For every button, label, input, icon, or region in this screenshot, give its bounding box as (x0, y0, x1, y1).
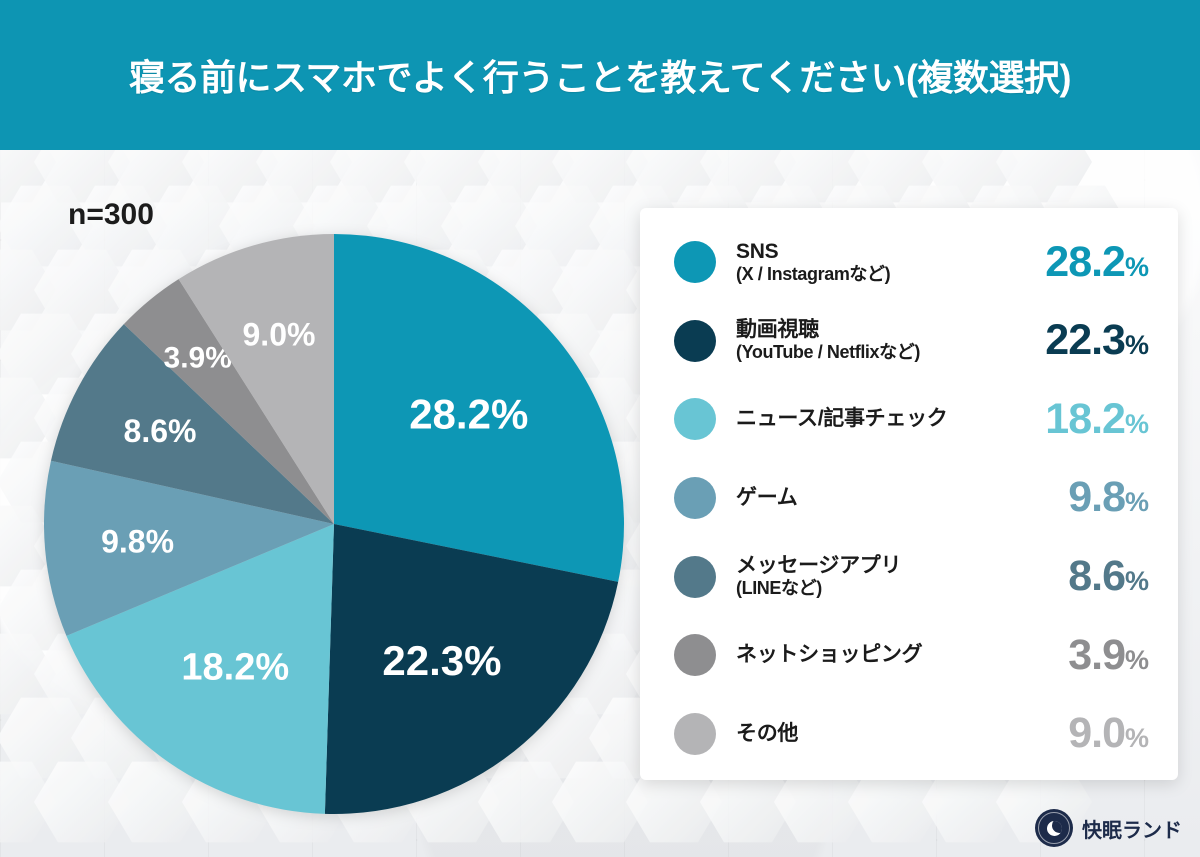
legend-item: 動画視聴(YouTube / Netflixなど)22.3% (674, 313, 1148, 369)
legend-label: その他 (736, 722, 1060, 746)
brand-logo: 快眠ランド (1035, 809, 1182, 847)
legend-label-primary: メッセージアプリ (736, 554, 1060, 578)
moon-glyph (1047, 821, 1062, 836)
legend-label-secondary: (LINEなど) (736, 578, 1060, 599)
legend-value: 9.0% (1068, 709, 1148, 758)
legend-color-dot (674, 477, 716, 519)
legend-value: 18.2% (1045, 395, 1148, 444)
legend-label-primary: ネットショッピング (736, 643, 1060, 667)
legend-color-dot (674, 241, 716, 283)
legend-label-secondary: (X / Instagramなど) (736, 264, 1037, 285)
legend-label-primary: 動画視聴 (736, 318, 1037, 342)
legend-label: ゲーム (736, 486, 1060, 510)
legend-item: SNS(X / Instagramなど)28.2% (674, 234, 1148, 290)
legend-label-primary: ニュース/記事チェック (736, 407, 1037, 431)
legend-value-unit: % (1125, 330, 1148, 360)
legend-label-primary: ゲーム (736, 486, 1060, 510)
legend-label: ニュース/記事チェック (736, 407, 1037, 431)
legend-color-dot (674, 634, 716, 676)
legend-value: 8.6% (1068, 552, 1148, 601)
page-title: 寝る前にスマホでよく行うことを教えてください(複数選択) (129, 49, 1071, 101)
brand-name: 快眠ランド (1082, 814, 1182, 843)
infographic-root: 寝る前にスマホでよく行うことを教えてください(複数選択) n=300 28.2%… (0, 0, 1200, 857)
legend-value-unit: % (1125, 409, 1148, 439)
legend-label: メッセージアプリ(LINEなど) (736, 554, 1060, 598)
legend-label: ネットショッピング (736, 643, 1060, 667)
legend-value: 22.3% (1045, 316, 1148, 365)
legend-item: ネットショッピング3.9% (674, 627, 1148, 683)
legend-label: SNS(X / Instagramなど) (736, 240, 1037, 284)
pie-slice-label: 22.3% (382, 637, 501, 684)
pie-slice-label: 28.2% (409, 390, 528, 437)
legend-color-dot (674, 556, 716, 598)
legend-label-primary: その他 (736, 722, 1060, 746)
legend-value-unit: % (1125, 566, 1148, 596)
crescent-moon-badge-icon (1035, 809, 1073, 847)
pie-slice-label: 8.6% (124, 413, 197, 449)
legend-item: その他9.0% (674, 706, 1148, 762)
legend-value-unit: % (1125, 252, 1148, 282)
pie-chart: 28.2%22.3%18.2%9.8%8.6%3.9%9.0% (38, 228, 630, 820)
legend-item: ニュース/記事チェック18.2% (674, 391, 1148, 447)
legend-value-unit: % (1125, 487, 1148, 517)
legend-color-dot (674, 398, 716, 440)
pie-slice-label: 9.8% (101, 523, 174, 559)
legend-value: 28.2% (1045, 238, 1148, 287)
legend-label-secondary: (YouTube / Netflixなど) (736, 342, 1037, 363)
legend-value-unit: % (1125, 723, 1148, 753)
legend-label-primary: SNS (736, 240, 1037, 264)
legend-color-dot (674, 713, 716, 755)
legend-value-unit: % (1125, 645, 1148, 675)
legend-card: SNS(X / Instagramなど)28.2%動画視聴(YouTube / … (640, 208, 1178, 780)
legend-item: ゲーム9.8% (674, 470, 1148, 526)
pie-slice-label: 9.0% (243, 317, 316, 353)
header-banner: 寝る前にスマホでよく行うことを教えてください(複数選択) (0, 0, 1200, 150)
legend-item: メッセージアプリ(LINEなど)8.6% (674, 549, 1148, 605)
legend-label: 動画視聴(YouTube / Netflixなど) (736, 318, 1037, 362)
pie-chart-svg: 28.2%22.3%18.2%9.8%8.6%3.9%9.0% (38, 228, 630, 820)
legend-value: 3.9% (1068, 631, 1148, 680)
pie-slice-label: 18.2% (181, 646, 289, 688)
legend-value: 9.8% (1068, 473, 1148, 522)
sample-size-label: n=300 (68, 198, 154, 232)
legend-color-dot (674, 320, 716, 362)
